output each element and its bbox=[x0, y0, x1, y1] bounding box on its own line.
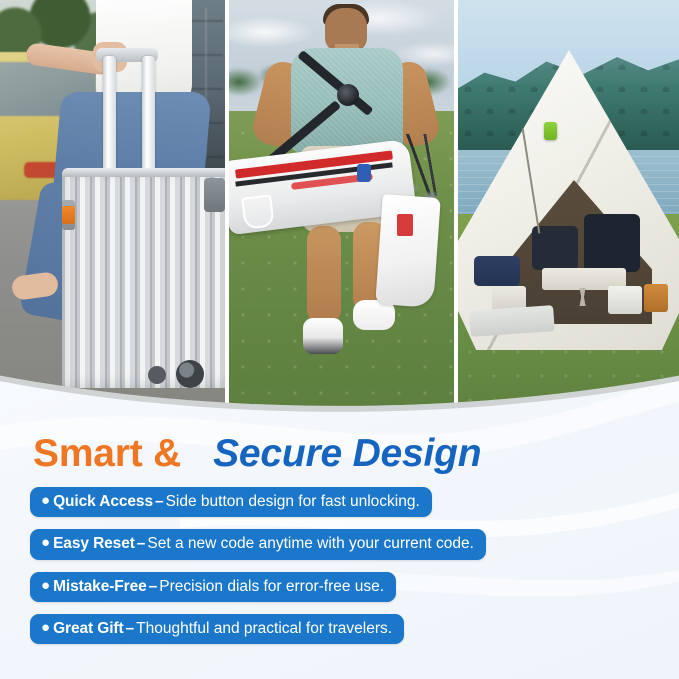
hero-panel-lakeside-camping-tent: Cream pyramid camping tent pitched on gr… bbox=[458, 0, 679, 410]
hero-clip: Woman in white top and blue jeans pullin… bbox=[0, 0, 679, 410]
feature-term: Great Gift bbox=[53, 620, 123, 637]
title-part-blue: Secure Design bbox=[213, 432, 481, 475]
golfer-left-shoe bbox=[303, 318, 343, 354]
feature-list: ●Quick Access–Side button design for fas… bbox=[30, 487, 486, 644]
suitcase-handle-right-post bbox=[142, 56, 155, 172]
bullet-dot-icon: ● bbox=[41, 619, 50, 636]
hero-image-strip: Woman in white top and blue jeans pullin… bbox=[0, 0, 679, 410]
orange-combination-lock-icon bbox=[62, 206, 75, 224]
suitcase-wheel-front bbox=[176, 360, 204, 388]
white-golf-towel bbox=[375, 194, 441, 308]
product-feature-infographic: Woman in white top and blue jeans pullin… bbox=[0, 0, 679, 679]
page-title: Smart & Secure Design bbox=[33, 432, 481, 476]
hero-panel-traveler-with-suitcase: Woman in white top and blue jeans pullin… bbox=[0, 0, 225, 410]
bullet-dot-icon: ● bbox=[41, 577, 50, 594]
feature-pill-easy-reset: ●Easy Reset–Set a new code anytime with … bbox=[30, 529, 486, 559]
camp-chair-right bbox=[584, 214, 640, 272]
feature-term: Mistake-Free bbox=[53, 578, 147, 595]
blue-duffel-bag bbox=[474, 256, 520, 286]
suitcase-handle-left-post bbox=[103, 56, 116, 172]
dash-separator: – bbox=[124, 620, 137, 637]
strap-connector-hub bbox=[337, 84, 359, 106]
bullet-dot-icon: ● bbox=[41, 534, 50, 551]
feature-description: Set a new code anytime with your current… bbox=[147, 535, 474, 552]
feature-pill-great-gift: ●Great Gift–Thoughtful and practical for… bbox=[30, 614, 404, 644]
suitcase-wheel-rear bbox=[148, 366, 166, 384]
feature-description: Side button design for fast unlocking. bbox=[166, 493, 420, 510]
towel-red-emblem bbox=[397, 214, 413, 236]
feature-description: Precision dials for error-free use. bbox=[159, 578, 384, 595]
feature-term: Easy Reset bbox=[53, 535, 135, 552]
feature-pill-mistake-free: ●Mistake-Free–Precision dials for error-… bbox=[30, 572, 396, 602]
suitcase-top-edge bbox=[62, 168, 225, 177]
blue-luggage-tag-icon bbox=[357, 164, 371, 182]
cooler-box bbox=[608, 286, 642, 314]
green-lock-tag-icon bbox=[544, 122, 557, 140]
feature-term: Quick Access bbox=[53, 493, 153, 510]
golfer-left-leg bbox=[307, 226, 341, 324]
suitcase-latch bbox=[204, 178, 225, 212]
hero-panel-golfer-with-bag: Golfer in teal polo and khaki shorts wal… bbox=[229, 0, 454, 410]
dash-separator: – bbox=[153, 493, 166, 510]
bullet-dot-icon: ● bbox=[41, 492, 50, 509]
title-part-orange: Smart & bbox=[33, 432, 181, 475]
dash-separator: – bbox=[147, 578, 160, 595]
orange-bucket bbox=[644, 284, 668, 312]
silver-suitcase-body bbox=[62, 168, 225, 388]
dash-separator: – bbox=[135, 535, 148, 552]
feature-pill-quick-access: ●Quick Access–Side button design for fas… bbox=[30, 487, 432, 517]
feature-description: Thoughtful and practical for travelers. bbox=[136, 620, 392, 637]
